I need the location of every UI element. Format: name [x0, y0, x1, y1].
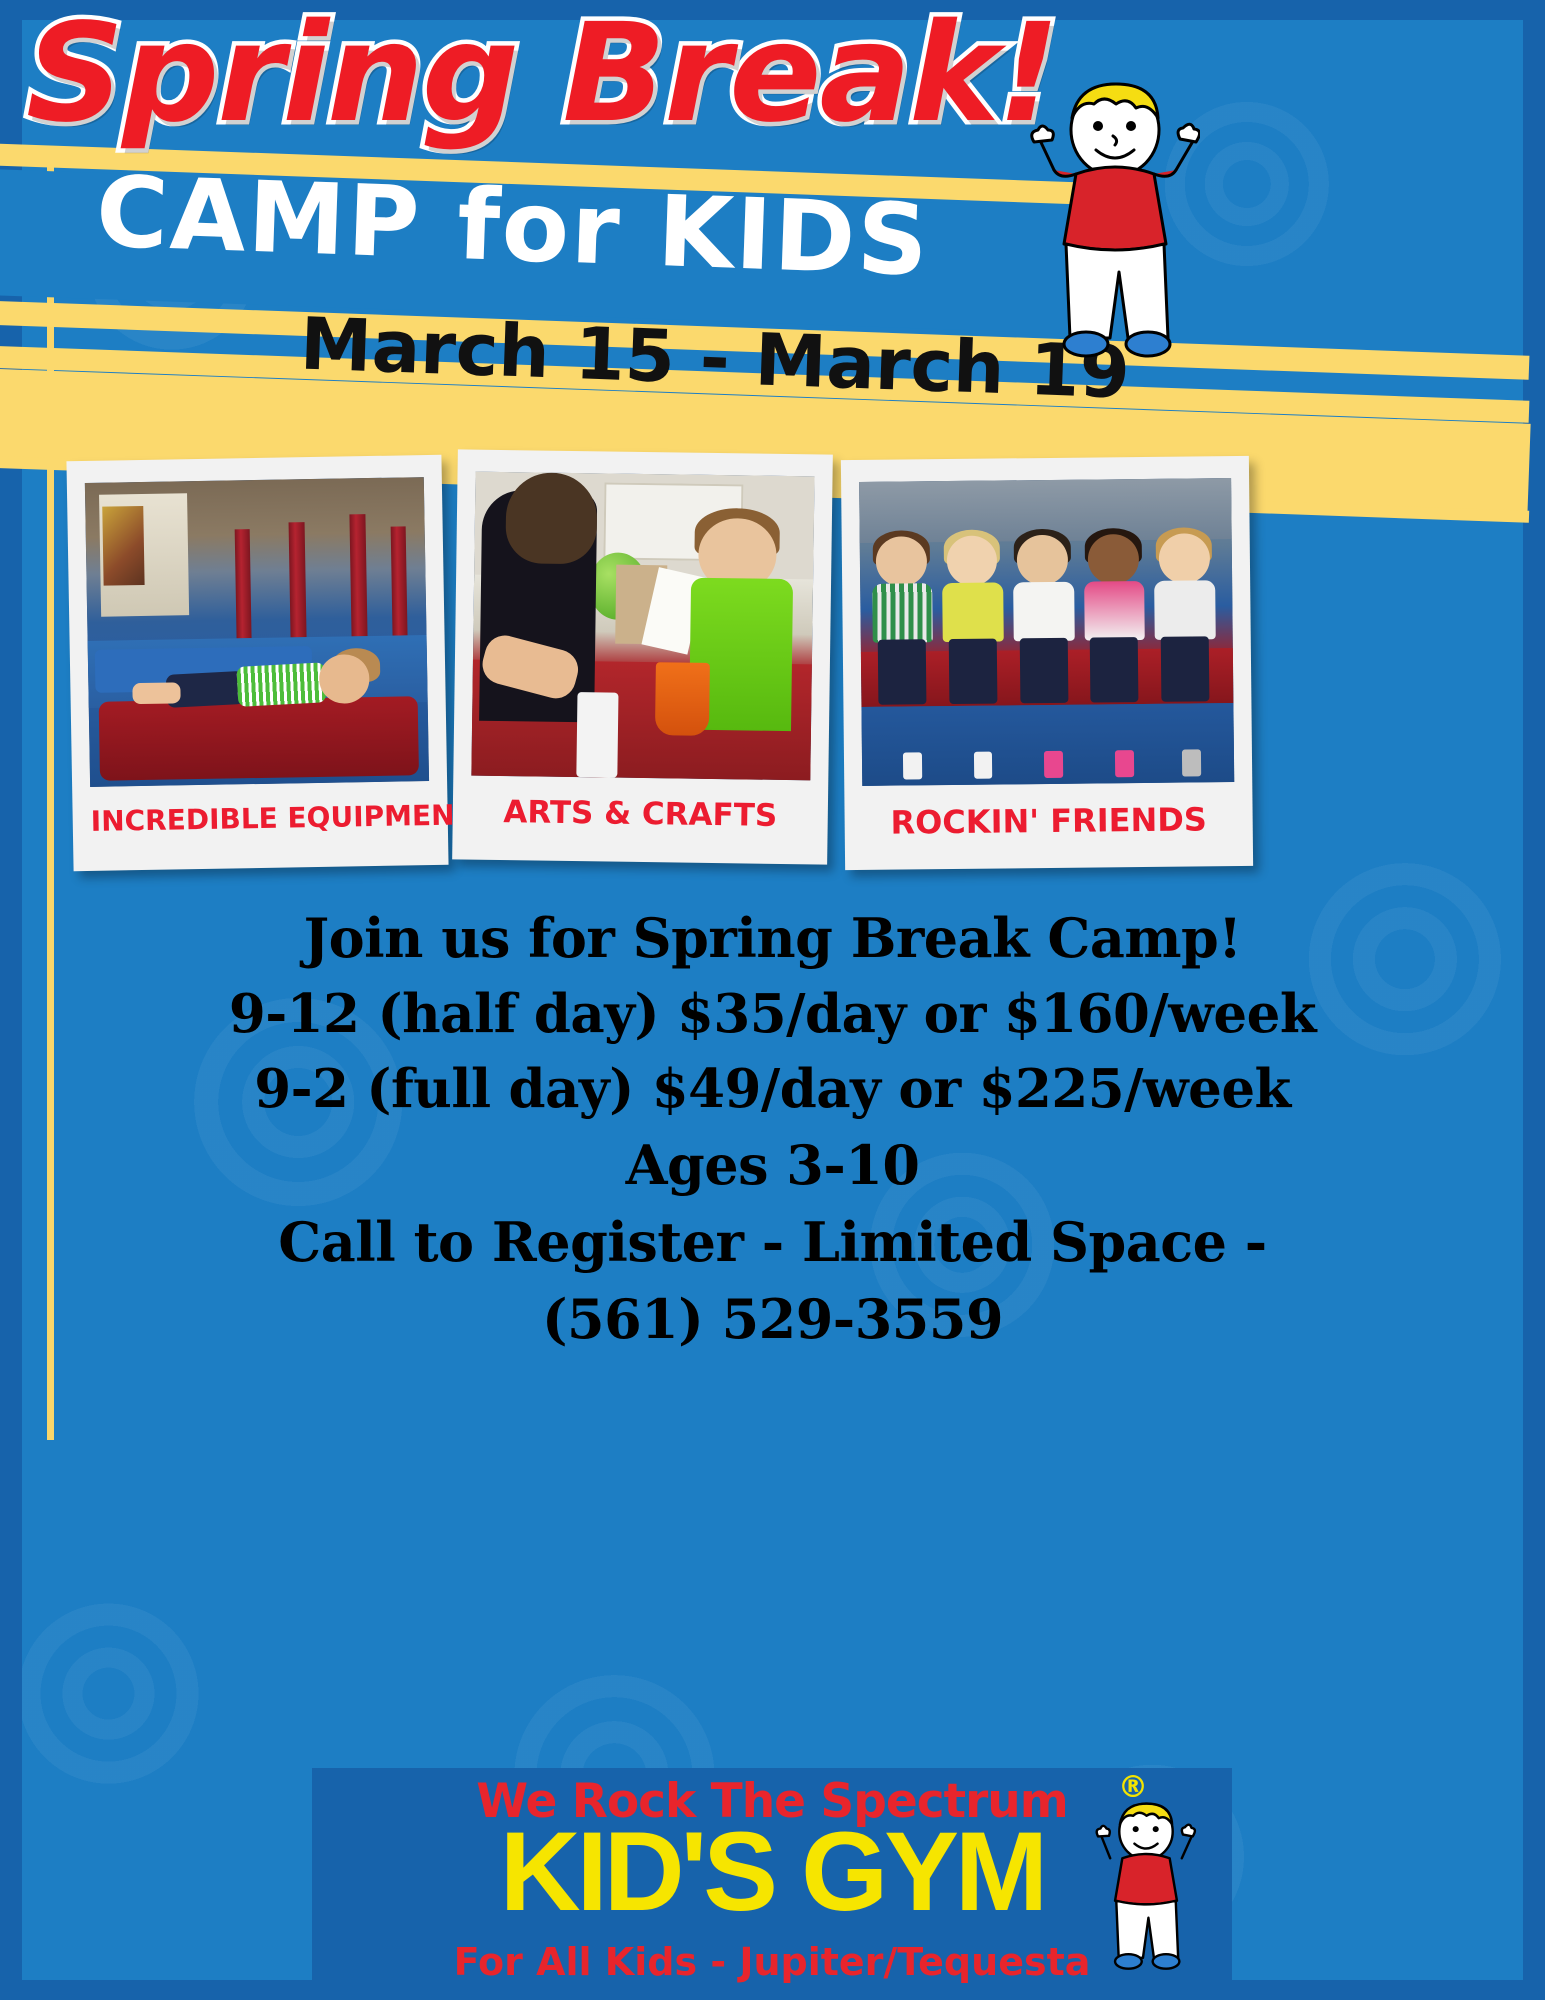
photo-incredible-equipment — [85, 477, 429, 787]
phone-number[interactable]: (561) 529-3559 — [0, 1281, 1545, 1358]
body-line-ages: Ages 3-10 — [0, 1127, 1545, 1204]
page-title-camp-for-kids: CAMP for KIDS — [95, 163, 932, 290]
photo-rockin-friends — [859, 478, 1234, 786]
mascot-boy-icon — [1030, 78, 1200, 368]
polaroid-incredible-equipment: INCREDIBLE EQUIPMENT — [66, 455, 448, 871]
polaroid-rockin-friends: ROCKIN' FRIENDS — [841, 456, 1253, 870]
photo-strip: INCREDIBLE EQUIPMENT — [0, 452, 1545, 892]
page-title-spring-break: Spring Break! — [26, 6, 1058, 142]
body-line-full-day: 9-2 (full day) $49/day or $225/week — [0, 1052, 1545, 1127]
photo-arts-and-crafts — [471, 472, 814, 781]
camp-details-block: Join us for Spring Break Camp! 9-12 (hal… — [0, 900, 1545, 1357]
mascot-boy-logo-icon — [1090, 1800, 1202, 1976]
polaroid-arts-and-crafts: ARTS & CRAFTS — [452, 449, 833, 864]
brand-logo: We Rock The Spectrum ® KID'S GYM For All… — [312, 1768, 1232, 1993]
photo-caption: ROCKIN' FRIENDS — [862, 782, 1235, 842]
body-line-invitation: Join us for Spring Break Camp! — [0, 900, 1545, 977]
flyer-poster: Spring Break! CAMP for KIDS March 15 - M… — [0, 0, 1545, 2000]
photo-caption: ARTS & CRAFTS — [471, 776, 811, 835]
body-line-half-day: 9-12 (half day) $35/day or $160/week — [0, 977, 1545, 1052]
photo-caption: INCREDIBLE EQUIPMENT — [90, 781, 430, 838]
body-line-register: Call to Register - Limited Space - — [0, 1204, 1545, 1281]
